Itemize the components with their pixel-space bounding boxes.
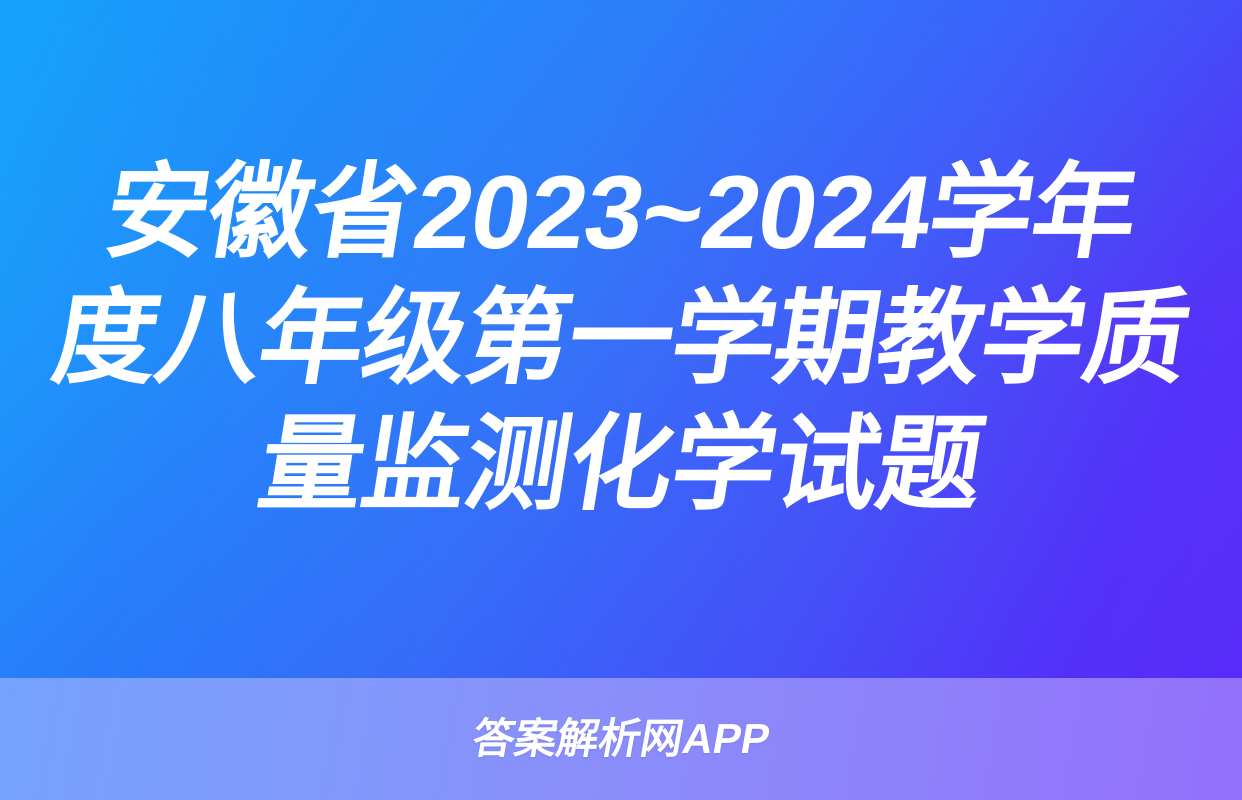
exam-title-line-1: 安徽省2023~2024学年 — [0, 150, 1242, 276]
app-watermark-label: 答案解析网APP — [469, 715, 774, 763]
exam-title-block: 安徽省2023~2024学年 度八年级第一学期教学质 量监测化学试题 — [0, 0, 1242, 678]
exam-title-line-3: 量监测化学试题 — [0, 402, 1242, 528]
poster-root: 安徽省2023~2024学年 度八年级第一学期教学质 量监测化学试题 答案解析网… — [0, 0, 1242, 800]
footer-watermark-band: 答案解析网APP — [0, 678, 1242, 800]
exam-title-line-2: 度八年级第一学期教学质 — [0, 276, 1242, 402]
